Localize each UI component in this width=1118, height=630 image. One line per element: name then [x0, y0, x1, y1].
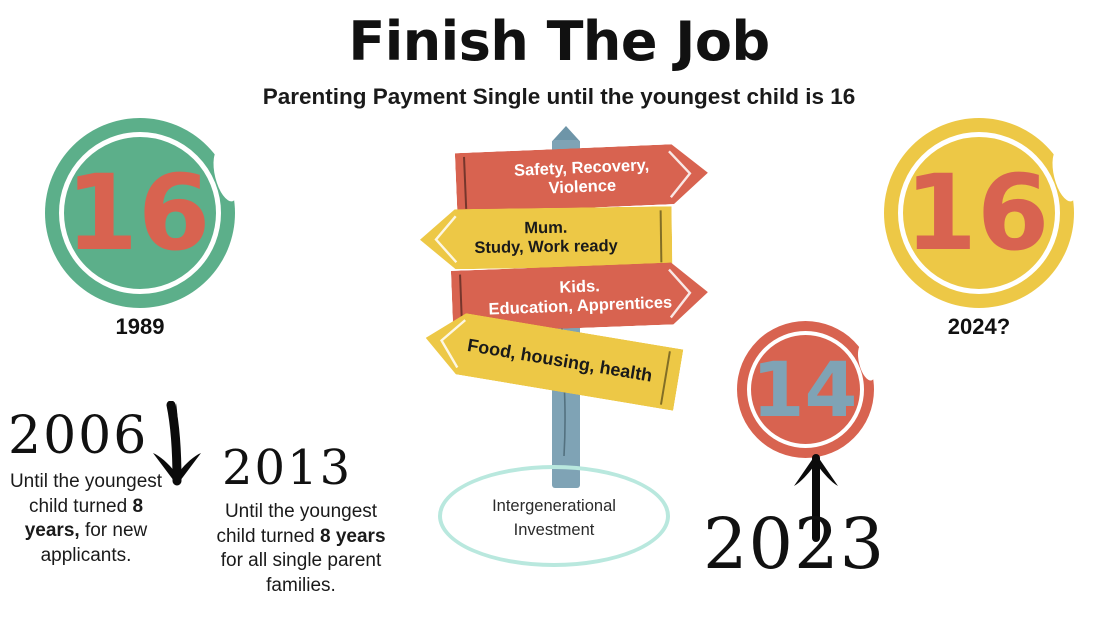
- note-2006: Until the youngest child turned 8 years,…: [6, 470, 166, 569]
- sign-mum-study-work-ready: Mum. Study, Work ready: [420, 206, 673, 270]
- year-2013-heading: 2013: [222, 440, 352, 496]
- page-title: Finish The Job: [0, 10, 1118, 73]
- sign-mum-label: Mum. Study, Work ready: [460, 218, 632, 258]
- badge-1989: 16 1989: [45, 118, 235, 333]
- sign-safety-label: Safety, Recovery, Violence: [500, 156, 665, 201]
- sign-safety-recovery-violence: Safety, Recovery, Violence: [455, 143, 709, 214]
- badge-1989-caption: 1989: [45, 314, 235, 340]
- sign-kids-label: Kids. Education, Apprentices: [474, 274, 687, 320]
- note-2013: Until the youngest child turned 8 years …: [205, 500, 397, 599]
- oval-line2: Investment: [438, 519, 670, 543]
- sign-kids-chevron: [667, 267, 695, 325]
- badge-14-number: 14: [737, 321, 874, 458]
- sign-mum-line2: Study, Work ready: [474, 237, 618, 258]
- badge-2024-caption: 2024?: [884, 314, 1074, 340]
- intergenerational-investment-label: Intergenerational Investment: [438, 495, 670, 543]
- sign-safety-chevron: [667, 148, 695, 204]
- sign-food-label: Food, housing, health: [436, 330, 667, 389]
- sign-food-line1: Food, housing, health: [466, 335, 654, 386]
- sign-mum-edge-line: [660, 210, 663, 262]
- page-subtitle: Parenting Payment Single until the young…: [0, 84, 1118, 110]
- oval-line1: Intergenerational: [438, 495, 670, 519]
- badge-2024: 16 2024?: [884, 118, 1074, 333]
- infographic-canvas: Finish The Job Parenting Payment Single …: [0, 0, 1118, 630]
- sign-safety-edge-line: [463, 157, 467, 209]
- note-2013-after: for all single parent families.: [221, 550, 382, 596]
- sign-mum-chevron: [432, 214, 459, 269]
- year-2023-heading: 2023: [703, 503, 885, 585]
- note-2013-bold: 8 years: [320, 526, 386, 547]
- badge-2024-number: 16: [884, 118, 1074, 308]
- arrow-down-icon: [146, 401, 208, 489]
- sign-mum-line1: Mum.: [474, 218, 618, 239]
- badge-1989-number: 16: [45, 118, 235, 308]
- sign-food-chevron: [433, 314, 468, 374]
- badge-14: 14: [737, 321, 874, 458]
- year-2006-heading: 2006: [8, 406, 148, 466]
